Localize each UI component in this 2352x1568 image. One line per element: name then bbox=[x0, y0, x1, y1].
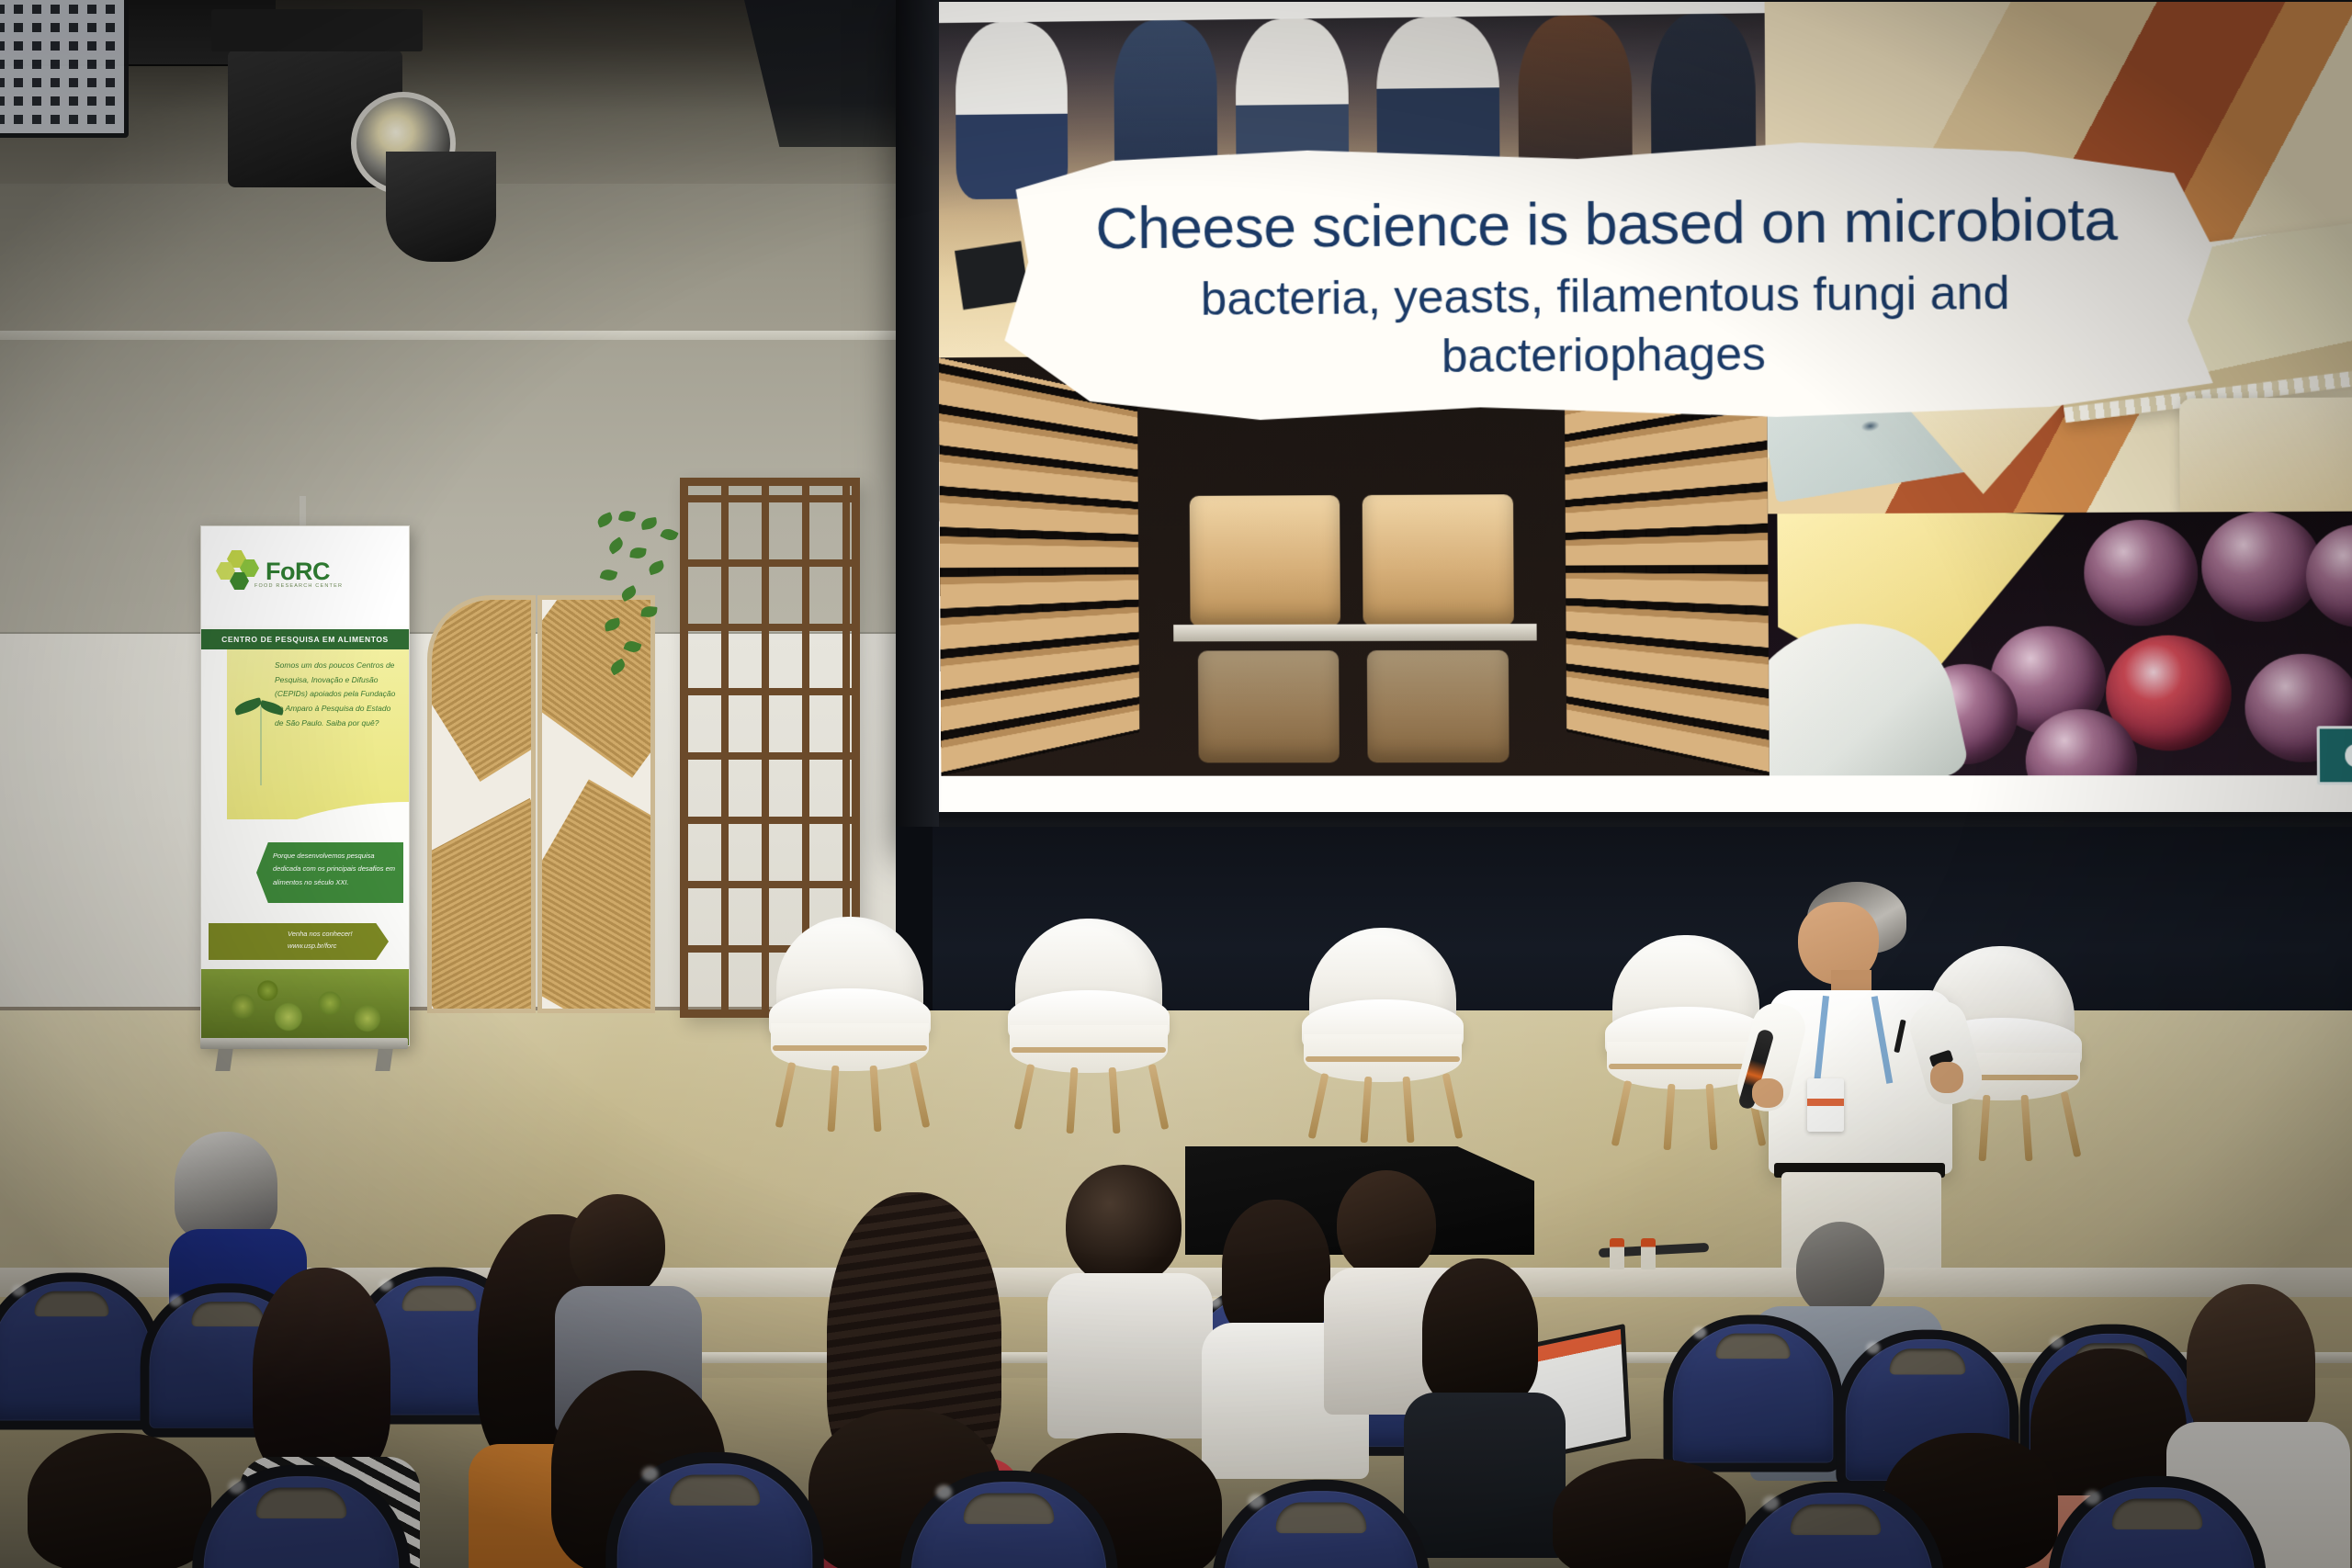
banner-chip-olive: Venha nos conhecer! www.usp.br/forc bbox=[209, 923, 389, 960]
slide-image-cheese-and-plums bbox=[1768, 511, 2352, 775]
audience-seat bbox=[1220, 1488, 1422, 1568]
plum-2 bbox=[2201, 512, 2322, 622]
audience-seat bbox=[1735, 1490, 1937, 1568]
projection-screen-surface: Cheese science is based on microbiota ba… bbox=[939, 2, 2352, 812]
slide-text-block: Cheese science is based on microbiota ba… bbox=[991, 144, 2226, 426]
projection-screen-left-edge bbox=[896, 0, 940, 850]
audience-seat bbox=[0, 1280, 154, 1423]
forc-wordmark: FoRC bbox=[266, 559, 330, 584]
plum-1 bbox=[2084, 520, 2198, 626]
led-wash-panel-icon bbox=[0, 0, 129, 138]
presenter bbox=[1750, 882, 1989, 1249]
bamboo-panel-left bbox=[427, 595, 536, 1013]
water-bottle-1 bbox=[1610, 1238, 1624, 1269]
cheese-wheel-c bbox=[1198, 650, 1340, 762]
audience-seat bbox=[1670, 1322, 1836, 1465]
banner-body-text: Somos um dos poucos Centros de Pesquisa,… bbox=[275, 659, 401, 731]
cheese-wheel-b bbox=[1363, 494, 1514, 626]
presenter-badge bbox=[1807, 1078, 1844, 1132]
banner-chip-green: Porque desenvolvemos pesquisa dedicada c… bbox=[256, 842, 403, 903]
slide-subtitle-line-1: bacteria, yeasts, filamentous fungi and bbox=[1201, 265, 2010, 327]
sprout-icon bbox=[234, 688, 289, 787]
presenter-hand-left bbox=[1752, 1078, 1783, 1108]
slide-title: Cheese science is based on microbiota bbox=[1095, 185, 2118, 264]
banner-base bbox=[200, 1038, 408, 1049]
forc-rollup-banner: FoRC FOOD RESEARCH CENTER CENTRO DE PESQ… bbox=[200, 525, 410, 1046]
audience-seat bbox=[200, 1473, 402, 1568]
water-bottle-2 bbox=[1641, 1238, 1656, 1269]
slide-subtitle-line-2: bacteriophages bbox=[1442, 327, 1766, 385]
banner-green-bar: CENTRO DE PESQUISA EM ALIMENTOS bbox=[201, 629, 409, 649]
forc-tagline: FOOD RESEARCH CENTER bbox=[254, 583, 343, 589]
banner-header: FoRC FOOD RESEARCH CENTER bbox=[201, 526, 409, 626]
banner-foot-left bbox=[215, 1049, 232, 1071]
cheese-wheel-a bbox=[1190, 495, 1340, 626]
conference-photo-scene: va lor bbox=[0, 0, 2352, 1568]
hexagon-cluster-icon bbox=[216, 550, 260, 592]
audience-seat bbox=[614, 1461, 816, 1568]
presenter-hand-right bbox=[1930, 1062, 1963, 1093]
spotlight-yoke bbox=[211, 9, 423, 51]
banner-bottom-photo bbox=[201, 969, 409, 1046]
spotlight-nose-icon bbox=[386, 152, 496, 262]
presentation-slide: Cheese science is based on microbiota ba… bbox=[939, 2, 2352, 812]
audience-seat bbox=[2056, 1484, 2258, 1568]
slide-corner-logo-icon bbox=[2317, 726, 2352, 784]
banner-green-bar-text: CENTRO DE PESQUISA EM ALIMENTOS bbox=[221, 635, 389, 644]
banner-foot-right bbox=[375, 1049, 392, 1071]
cave-rail bbox=[1173, 624, 1536, 641]
ivy-garland bbox=[588, 511, 695, 685]
audience-seat bbox=[908, 1479, 1110, 1568]
cheese-wheel-d bbox=[1367, 650, 1510, 763]
